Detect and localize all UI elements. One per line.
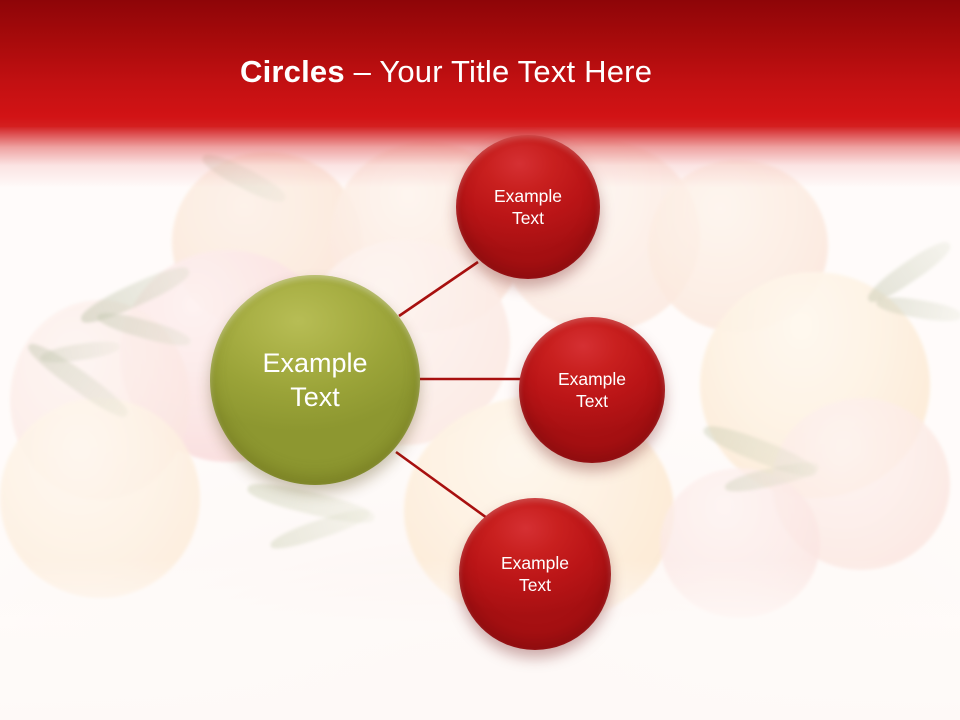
satellite-top-label-line1: Example [494,185,562,207]
diagram-satellite-node-bottom[interactable]: Example Text [459,498,611,650]
diagram-center-node[interactable]: Example Text [210,275,420,485]
connector-center-to-top [399,262,478,316]
center-label-line1: Example [262,346,367,380]
satellite-right-label-line1: Example [558,368,626,390]
satellite-top-label-line2: Text [494,207,562,229]
center-label-line2: Text [262,380,367,414]
connector-center-to-bottom [396,452,487,518]
diagram-satellite-node-bottom-label: Example Text [501,552,569,596]
page-title: Circles – Your Title Text Here [240,54,652,90]
satellite-bottom-label-line1: Example [501,552,569,574]
page-title-strong: Circles [240,54,345,89]
diagram-satellite-node-top-label: Example Text [494,185,562,229]
diagram-satellite-node-right-label: Example Text [558,368,626,412]
satellite-bottom-label-line2: Text [501,574,569,596]
diagram-center-node-label: Example Text [262,346,367,414]
slide-canvas: Circles – Your Title Text Here Example T… [0,0,960,720]
satellite-right-label-line2: Text [558,390,626,412]
diagram-satellite-node-top[interactable]: Example Text [456,135,600,279]
diagram-satellite-node-right[interactable]: Example Text [519,317,665,463]
page-title-rest: – Your Title Text Here [345,54,652,89]
